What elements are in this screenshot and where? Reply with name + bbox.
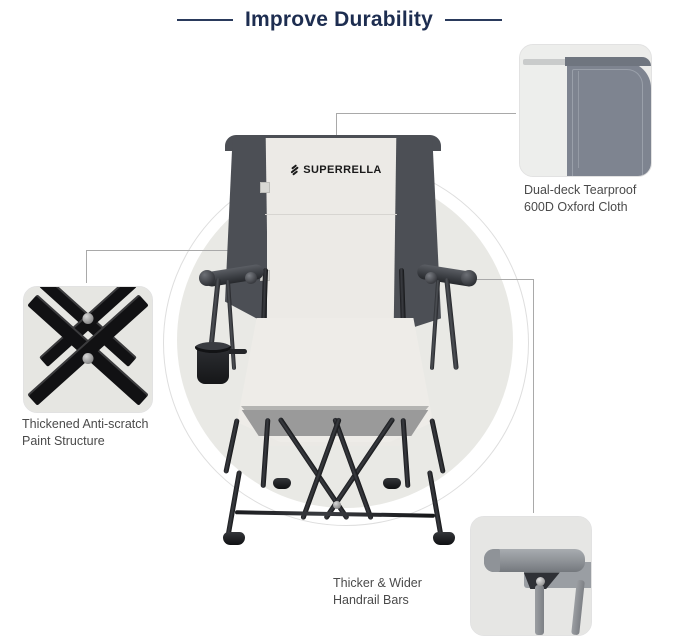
header-rule-right	[445, 19, 502, 21]
page-title: Improve Durability	[245, 8, 433, 32]
callout-paint-image	[23, 286, 153, 413]
callout-paint-art	[24, 287, 152, 412]
connector-handrail-vertical	[533, 279, 534, 518]
backrest-seam	[265, 214, 397, 215]
armrest-left-cap	[199, 270, 215, 286]
brand-name: SUPERRELLA	[303, 164, 382, 176]
callout-fabric-caption: Dual-deck Tearproof 600D Oxford Cloth	[524, 182, 674, 216]
header: Improve Durability	[0, 0, 679, 40]
leg-front-right-upper	[429, 418, 446, 474]
armrest-left-knob	[245, 272, 257, 284]
foot-rear-right	[383, 478, 401, 489]
leg-front-left-lower	[225, 470, 242, 540]
infographic-page: Improve Durability SUPERRELLA	[0, 0, 679, 637]
cup-holder-rim	[195, 342, 231, 353]
product-chair-image: SUPERRELLA	[177, 118, 507, 518]
fabric-dark-panel	[567, 62, 651, 176]
x-brace-center-rivet	[333, 501, 341, 509]
callout-fabric-art	[520, 45, 651, 176]
armrest-right-cap	[461, 270, 477, 286]
backrest-tab-upper	[260, 182, 270, 193]
callout-fabric-image	[519, 44, 652, 177]
leg-front-right-lower	[427, 470, 444, 540]
fabric-seam	[578, 71, 579, 168]
callout-handrail-image	[470, 516, 592, 636]
leg-front-left-upper	[223, 418, 240, 474]
brand-logo: SUPERRELLA	[281, 164, 391, 176]
callout-handrail-art	[471, 517, 591, 635]
arm-strut-right-outer	[444, 278, 459, 370]
fabric-light-panel	[520, 45, 570, 176]
handrail-support-leg	[535, 585, 545, 635]
callout-handrail-caption: Thicker & Wider Handrail Bars	[333, 575, 483, 609]
foot-rear-left	[273, 478, 291, 489]
lower-cross-brace	[235, 510, 435, 517]
fabric-top-band	[565, 57, 651, 66]
foot-front-right	[433, 532, 455, 545]
x-joint-rivet-upper	[83, 313, 94, 324]
handrail-screw	[536, 577, 545, 586]
x-joint-rivet-lower	[83, 353, 94, 364]
header-rule-left	[177, 19, 233, 21]
connector-fabric-horizontal	[336, 113, 528, 114]
handrail-padded-bar	[484, 549, 585, 573]
brand-stripes-icon	[290, 165, 301, 174]
backrest-left-wing	[225, 138, 267, 324]
foot-front-left	[223, 532, 245, 545]
fabric-edge-binding	[523, 59, 570, 64]
callout-paint-caption: Thickened Anti-scratch Paint Structure	[22, 416, 182, 450]
connector-paint-vertical	[86, 250, 87, 288]
